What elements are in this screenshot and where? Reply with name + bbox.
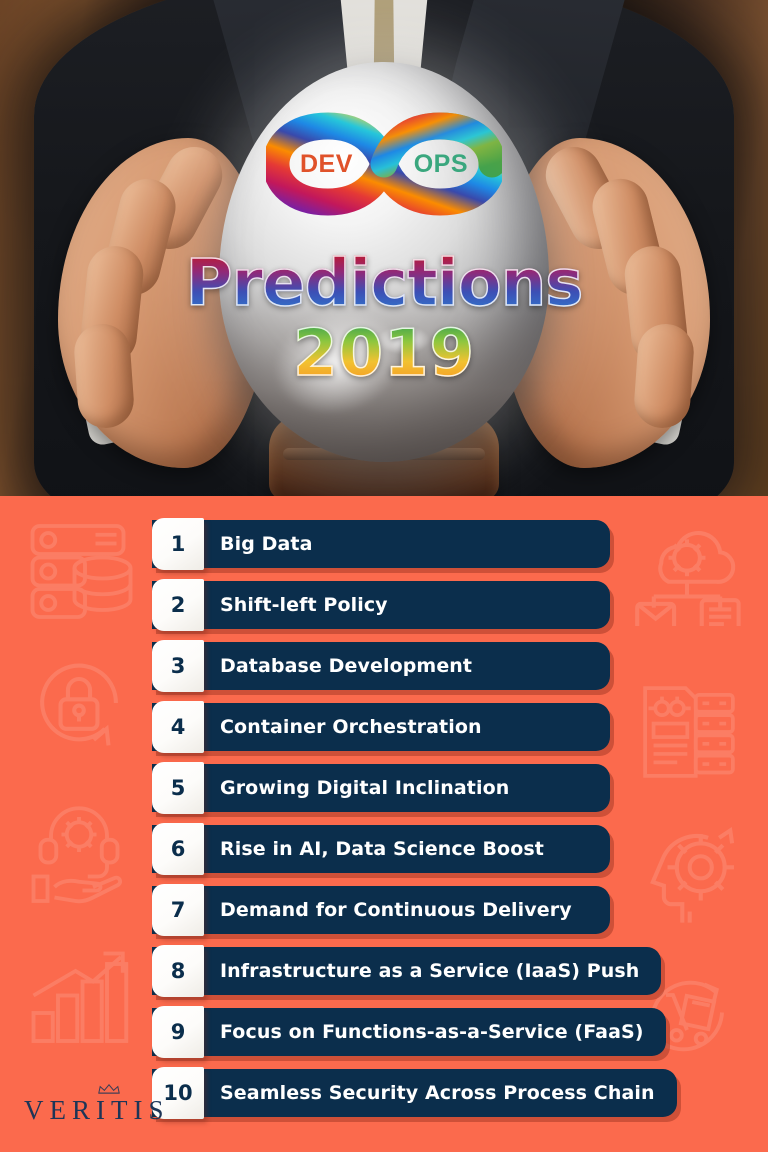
- list-item[interactable]: Database Development 3: [152, 642, 764, 690]
- list-item-label: Rise in AI, Data Science Boost: [220, 838, 544, 860]
- list-item-bar[interactable]: Database Development: [152, 642, 610, 690]
- list-item[interactable]: Demand for Continuous Delivery 7: [152, 886, 764, 934]
- hero-photo: DEV OPS Predictions 2019: [0, 0, 768, 496]
- veritis-wordmark: VERITIS: [24, 1095, 170, 1126]
- list-item-badge: 3: [152, 640, 204, 692]
- list-item-badge: 9: [152, 1006, 204, 1058]
- list-item[interactable]: Rise in AI, Data Science Boost 6: [152, 825, 764, 873]
- list-item-number: 8: [171, 961, 186, 982]
- list-item[interactable]: Focus on Functions-as-a-Service (FaaS) 9: [152, 1008, 764, 1056]
- list-item[interactable]: Infrastructure as a Service (IaaS) Push …: [152, 947, 764, 995]
- list-item-number: 6: [171, 839, 186, 860]
- list-item[interactable]: Shift-left Policy 2: [152, 581, 764, 629]
- list-item-bar[interactable]: Growing Digital Inclination: [152, 764, 610, 812]
- list-item-label: Seamless Security Across Process Chain: [220, 1082, 655, 1104]
- list-item-number: 4: [171, 717, 186, 738]
- list-item[interactable]: Container Orchestration 4: [152, 703, 764, 751]
- list-item-bar[interactable]: Seamless Security Across Process Chain: [152, 1069, 677, 1117]
- infographic-page: DEV OPS Predictions 2019: [0, 0, 768, 1152]
- list-item-label: Shift-left Policy: [220, 594, 388, 616]
- list-item-number: 7: [171, 900, 186, 921]
- veritis-logo[interactable]: VERITIS: [24, 1095, 170, 1126]
- list-item-bar[interactable]: Demand for Continuous Delivery: [152, 886, 610, 934]
- list-item-badge: 8: [152, 945, 204, 997]
- list-item-bar[interactable]: Shift-left Policy: [152, 581, 610, 629]
- list-item-badge: 7: [152, 884, 204, 936]
- list-item-badge: 6: [152, 823, 204, 875]
- list-item-bar[interactable]: Container Orchestration: [152, 703, 610, 751]
- list-item-label: Database Development: [220, 655, 472, 677]
- list-item-label: Big Data: [220, 533, 313, 555]
- list-item-number: 9: [171, 1022, 186, 1043]
- list-item-number: 2: [171, 595, 186, 616]
- hero-titles: Predictions 2019: [0, 252, 768, 386]
- list-item-label: Container Orchestration: [220, 716, 482, 738]
- list-item-badge: 2: [152, 579, 204, 631]
- list-item-label: Growing Digital Inclination: [220, 777, 509, 799]
- predictions-rows: Big Data 1 Shift-left Policy 2 Database …: [0, 520, 768, 1130]
- list-item-bar[interactable]: Focus on Functions-as-a-Service (FaaS): [152, 1008, 666, 1056]
- list-item-label: Demand for Continuous Delivery: [220, 899, 572, 921]
- list-item[interactable]: Seamless Security Across Process Chain 1…: [152, 1069, 764, 1117]
- crown-icon: [96, 1082, 122, 1096]
- page-title: Predictions: [0, 252, 768, 316]
- list-item-number: 5: [171, 778, 186, 799]
- list-item-badge: 5: [152, 762, 204, 814]
- predictions-list-section: Big Data 1 Shift-left Policy 2 Database …: [0, 496, 768, 1152]
- list-item-label: Infrastructure as a Service (IaaS) Push: [220, 960, 639, 982]
- list-item-bar[interactable]: Infrastructure as a Service (IaaS) Push: [152, 947, 661, 995]
- list-item[interactable]: Big Data 1: [152, 520, 764, 568]
- list-item[interactable]: Growing Digital Inclination 5: [152, 764, 764, 812]
- devops-infinity-logo: DEV OPS: [266, 108, 502, 220]
- list-item-bar[interactable]: Big Data: [152, 520, 610, 568]
- list-item-number: 1: [171, 534, 186, 555]
- list-item-badge: 4: [152, 701, 204, 753]
- page-title-year: 2019: [0, 322, 768, 386]
- list-item-badge: 1: [152, 518, 204, 570]
- list-item-bar[interactable]: Rise in AI, Data Science Boost: [152, 825, 610, 873]
- list-item-number: 3: [171, 656, 186, 677]
- list-item-label: Focus on Functions-as-a-Service (FaaS): [220, 1021, 644, 1043]
